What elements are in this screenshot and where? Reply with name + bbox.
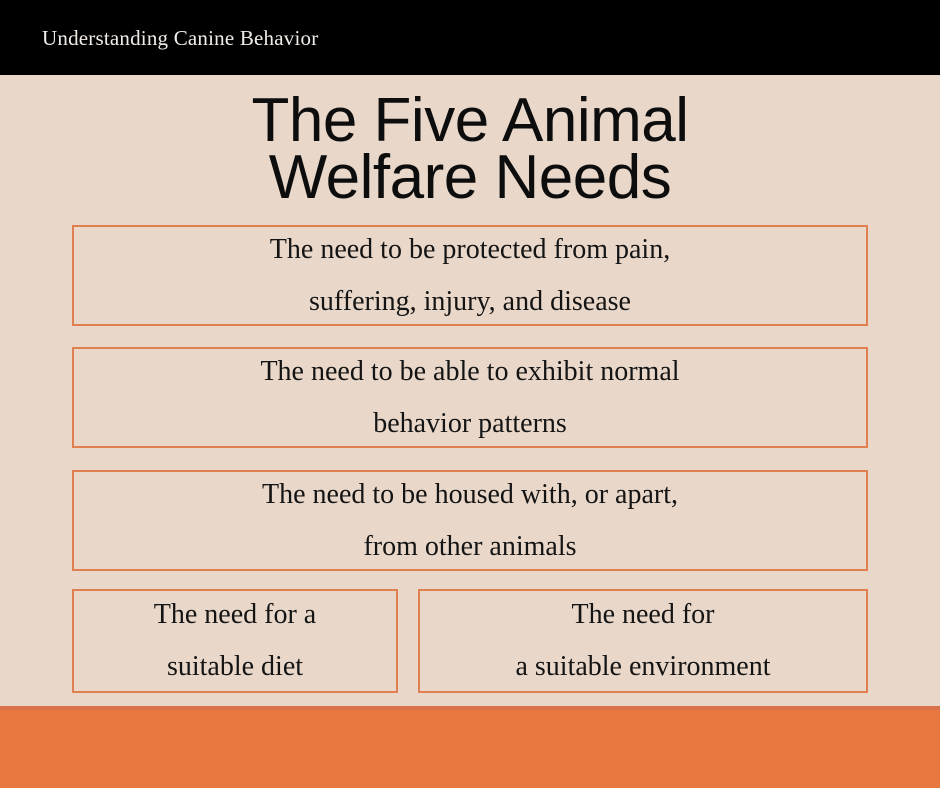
need-text-1: The need to be protected from pain, suff… xyxy=(260,224,680,328)
need-text-2-line-2: behavior patterns xyxy=(260,398,679,450)
need-text-2: The need to be able to exhibit normal be… xyxy=(250,346,689,450)
bottom-accent-band-edge xyxy=(0,706,940,710)
need-text-4-line-1: The need for a xyxy=(154,589,316,641)
need-text-1-line-1: The need to be protected from pain, xyxy=(270,224,670,276)
need-text-3-line-1: The need to be housed with, or apart, xyxy=(262,469,678,521)
need-text-3: The need to be housed with, or apart, fr… xyxy=(252,469,688,573)
need-box-1: The need to be protected from pain, suff… xyxy=(72,225,868,326)
need-text-5: The need for a suitable environment xyxy=(505,589,780,693)
top-banner: Understanding Canine Behavior xyxy=(0,0,940,75)
need-text-2-line-1: The need to be able to exhibit normal xyxy=(260,346,679,398)
need-box-4: The need for a suitable diet xyxy=(72,589,398,693)
need-text-3-line-2: from other animals xyxy=(262,521,678,573)
need-text-4: The need for a suitable diet xyxy=(144,589,326,693)
need-text-1-line-2: suffering, injury, and disease xyxy=(270,276,670,328)
need-box-3: The need to be housed with, or apart, fr… xyxy=(72,470,868,571)
need-box-5: The need for a suitable environment xyxy=(418,589,868,693)
slide-title-line-1: The Five Animal xyxy=(0,92,940,149)
slide-kicker: Understanding Canine Behavior xyxy=(42,25,318,51)
need-text-5-line-2: a suitable environment xyxy=(515,641,770,693)
need-text-5-line-1: The need for xyxy=(515,589,770,641)
need-text-4-line-2: suitable diet xyxy=(154,641,316,693)
need-box-2: The need to be able to exhibit normal be… xyxy=(72,347,868,448)
slide-canvas: Understanding Canine Behavior The Five A… xyxy=(0,0,940,788)
slide-title: The Five Animal Welfare Needs xyxy=(0,92,940,206)
slide-title-line-2: Welfare Needs xyxy=(0,149,940,206)
bottom-accent-band xyxy=(0,706,940,788)
